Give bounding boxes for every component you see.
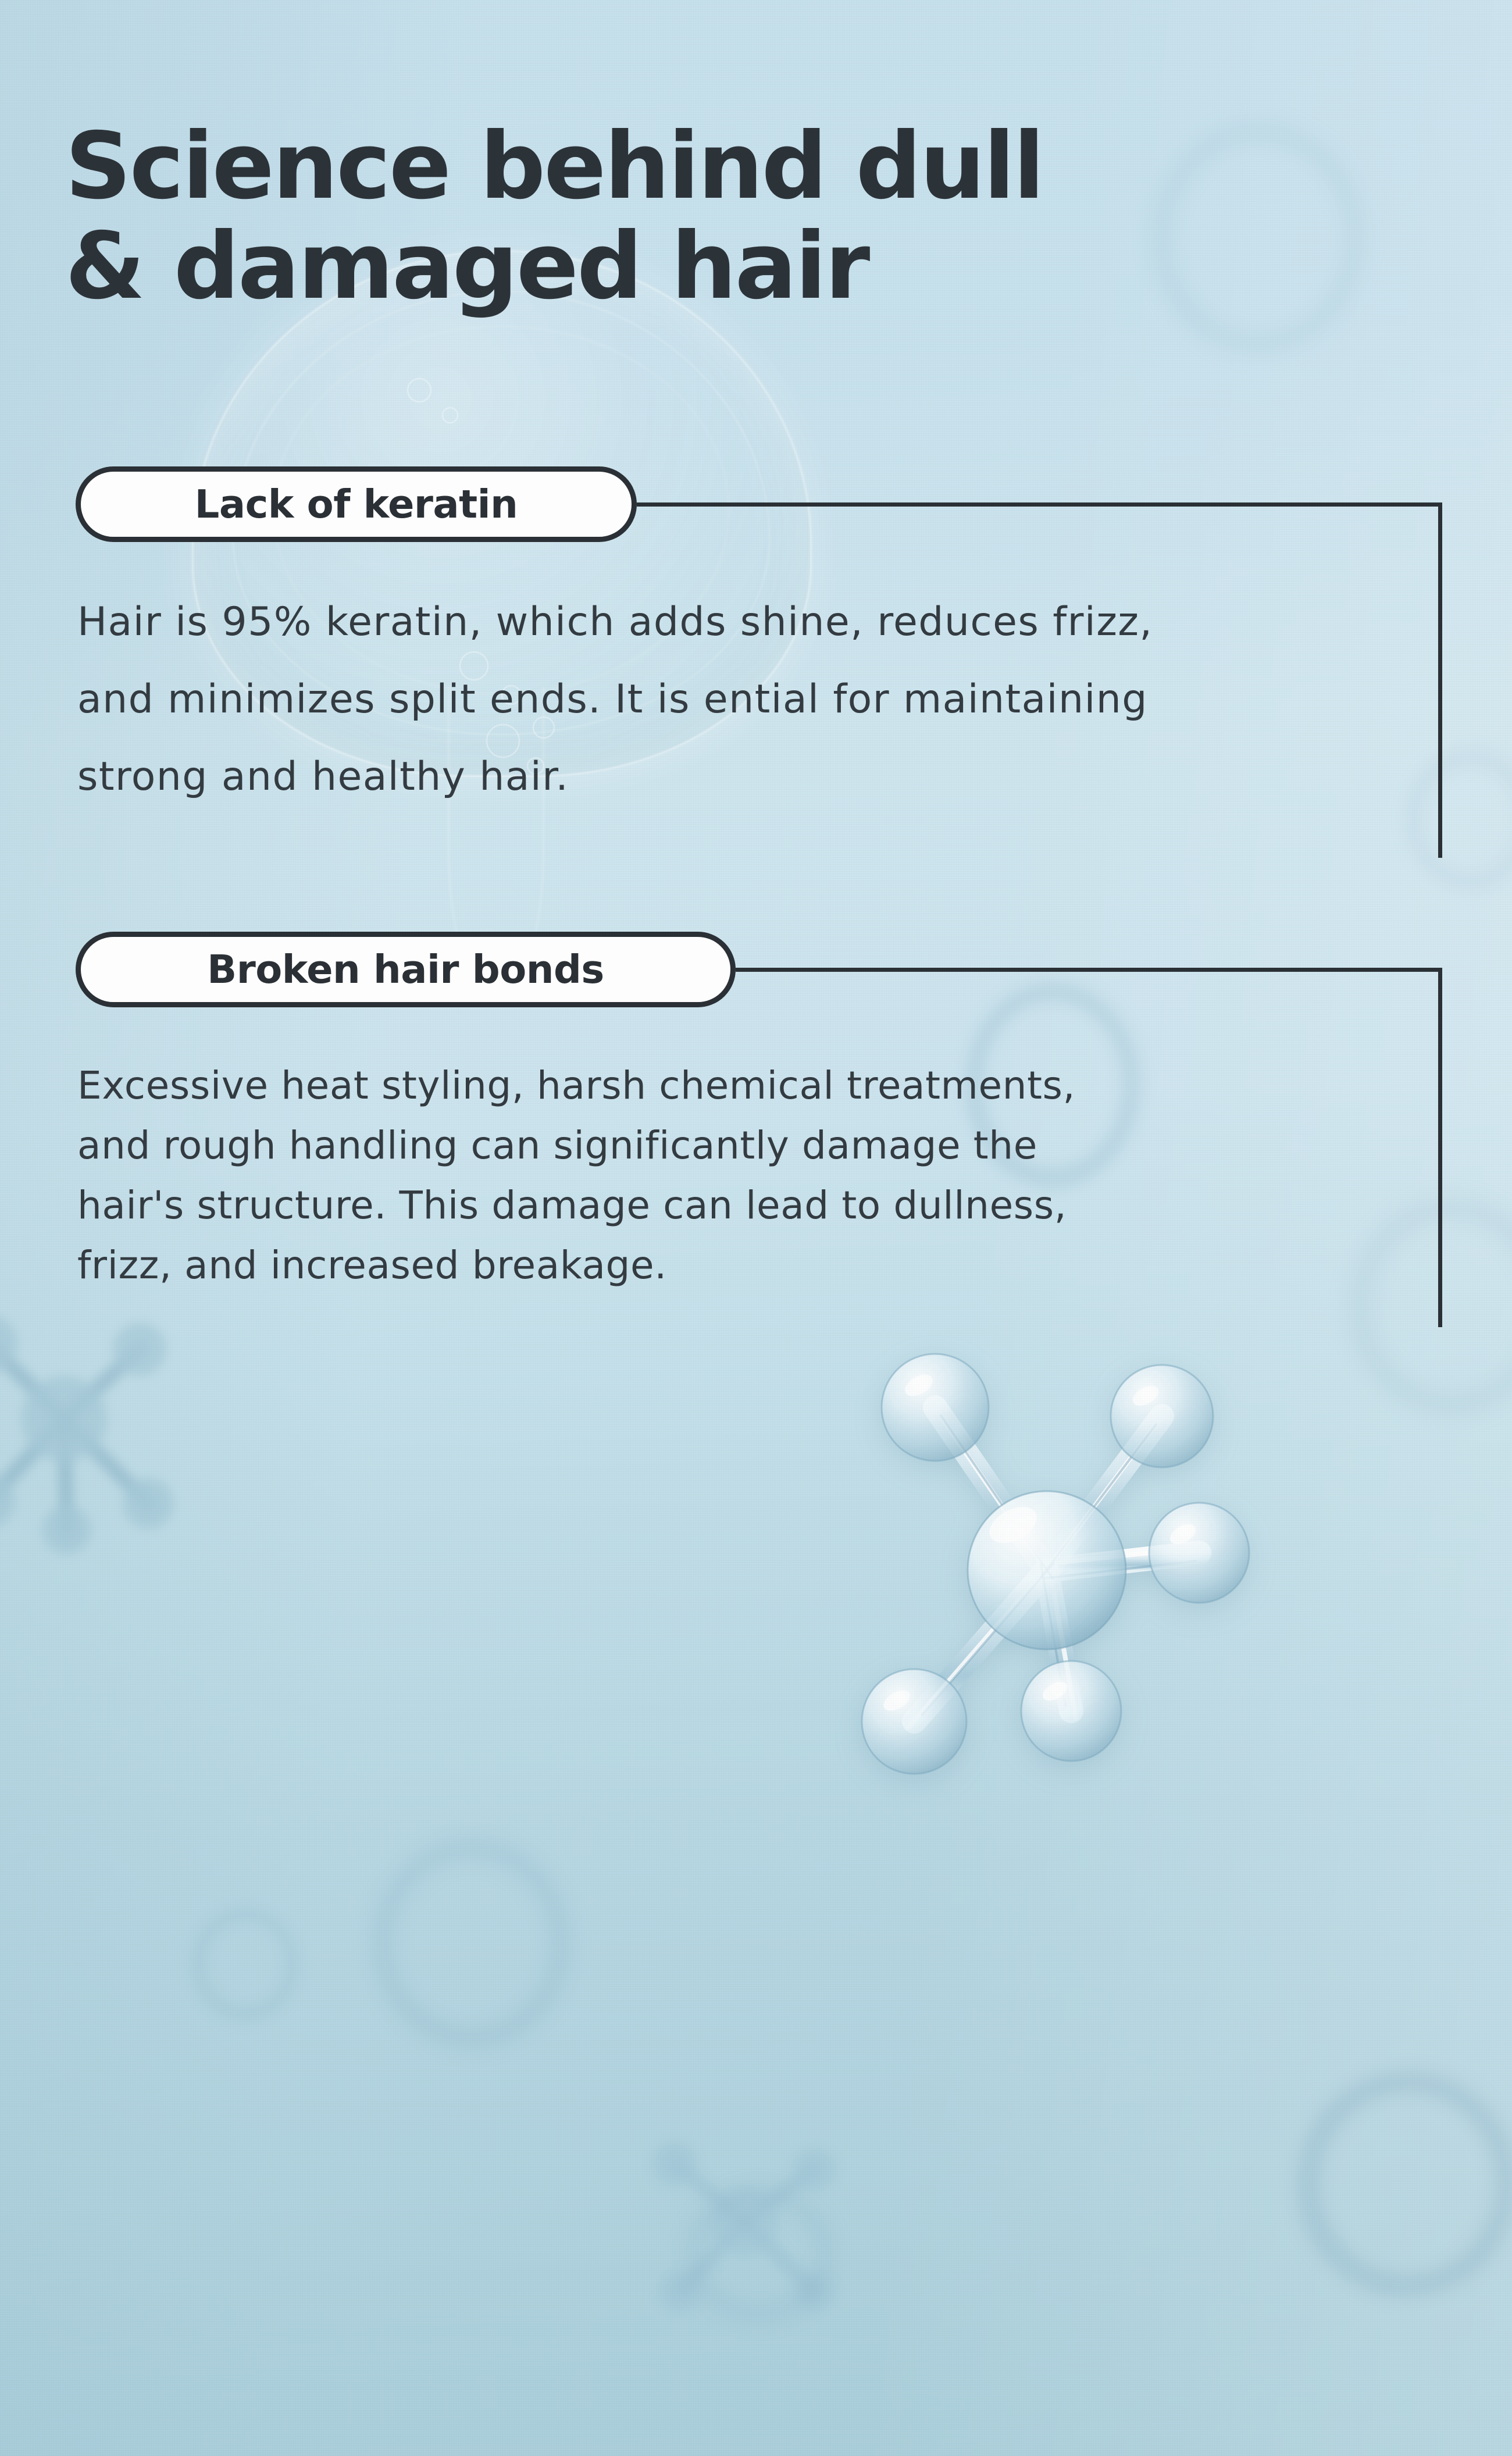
bracket-vertical-line [1438, 968, 1442, 1327]
page-title: Science behind dull & damaged hair [65, 116, 1043, 316]
body-text-broken-hair-bonds: Excessive heat styling, harsh chemical t… [77, 1056, 1427, 1295]
bracket-horizontal-line [637, 502, 1442, 507]
poster-content: Science behind dull & damaged hair Lack … [0, 0, 1512, 2456]
badge-lack-of-keratin[interactable]: Lack of keratin [76, 466, 637, 542]
poster-canvas: Science behind dull & damaged hair Lack … [0, 0, 1512, 2456]
badge-label: Broken hair bonds [207, 950, 604, 989]
bracket-horizontal-line [736, 968, 1442, 972]
bracket-vertical-line [1438, 502, 1442, 858]
body-text-lack-of-keratin: Hair is 95% keratin, which adds shine, r… [77, 583, 1427, 815]
badge-label: Lack of keratin [195, 485, 518, 524]
badge-broken-hair-bonds[interactable]: Broken hair bonds [76, 932, 736, 1007]
